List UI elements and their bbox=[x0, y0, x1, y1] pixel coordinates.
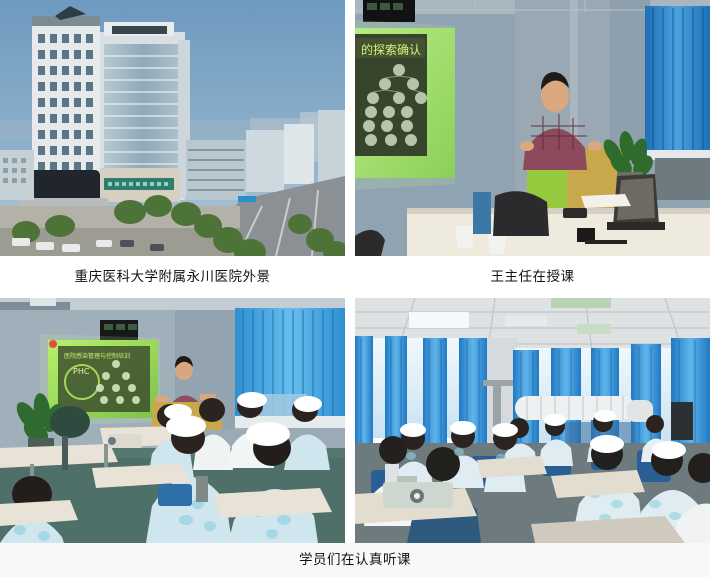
caption-row-top: 重庆医科大学附属永川医院外景 王主任在授课 bbox=[0, 256, 710, 298]
caption-top-left: 重庆医科大学附属永川医院外景 bbox=[0, 256, 345, 298]
photo-gallery-page: 的探索确认 bbox=[0, 0, 710, 577]
photo-cell-classroom-left[interactable]: 医院感染管理与控制培训 PHC bbox=[0, 298, 345, 543]
lecturer-image: 的探索确认 bbox=[355, 0, 710, 256]
photo-lecturer[interactable]: 的探索确认 bbox=[355, 0, 710, 256]
photo-grid: 的探索确认 bbox=[0, 0, 710, 543]
grid-gap-top bbox=[345, 0, 355, 256]
photo-hospital-exterior[interactable] bbox=[0, 0, 345, 256]
caption-bottom-full: 学员们在认真听课 bbox=[0, 543, 710, 577]
photo-row-top: 的探索确认 bbox=[0, 0, 710, 256]
photo-cell-hospital-exterior[interactable] bbox=[0, 0, 345, 256]
photo-row-bottom: 医院感染管理与控制培训 PHC bbox=[0, 298, 710, 543]
classroom-right-image bbox=[355, 298, 710, 543]
photo-classroom-right[interactable] bbox=[355, 298, 710, 543]
caption-gap bbox=[345, 256, 355, 298]
caption-top-right: 王主任在授课 bbox=[355, 256, 710, 298]
hospital-exterior-image bbox=[0, 0, 345, 256]
photo-cell-lecturer[interactable]: 的探索确认 bbox=[355, 0, 710, 256]
classroom-left-image: 医院感染管理与控制培训 PHC bbox=[0, 298, 345, 543]
photo-cell-classroom-right[interactable] bbox=[355, 298, 710, 543]
grid-gap-bottom bbox=[345, 298, 355, 543]
photo-classroom-left[interactable]: 医院感染管理与控制培训 PHC bbox=[0, 298, 345, 543]
